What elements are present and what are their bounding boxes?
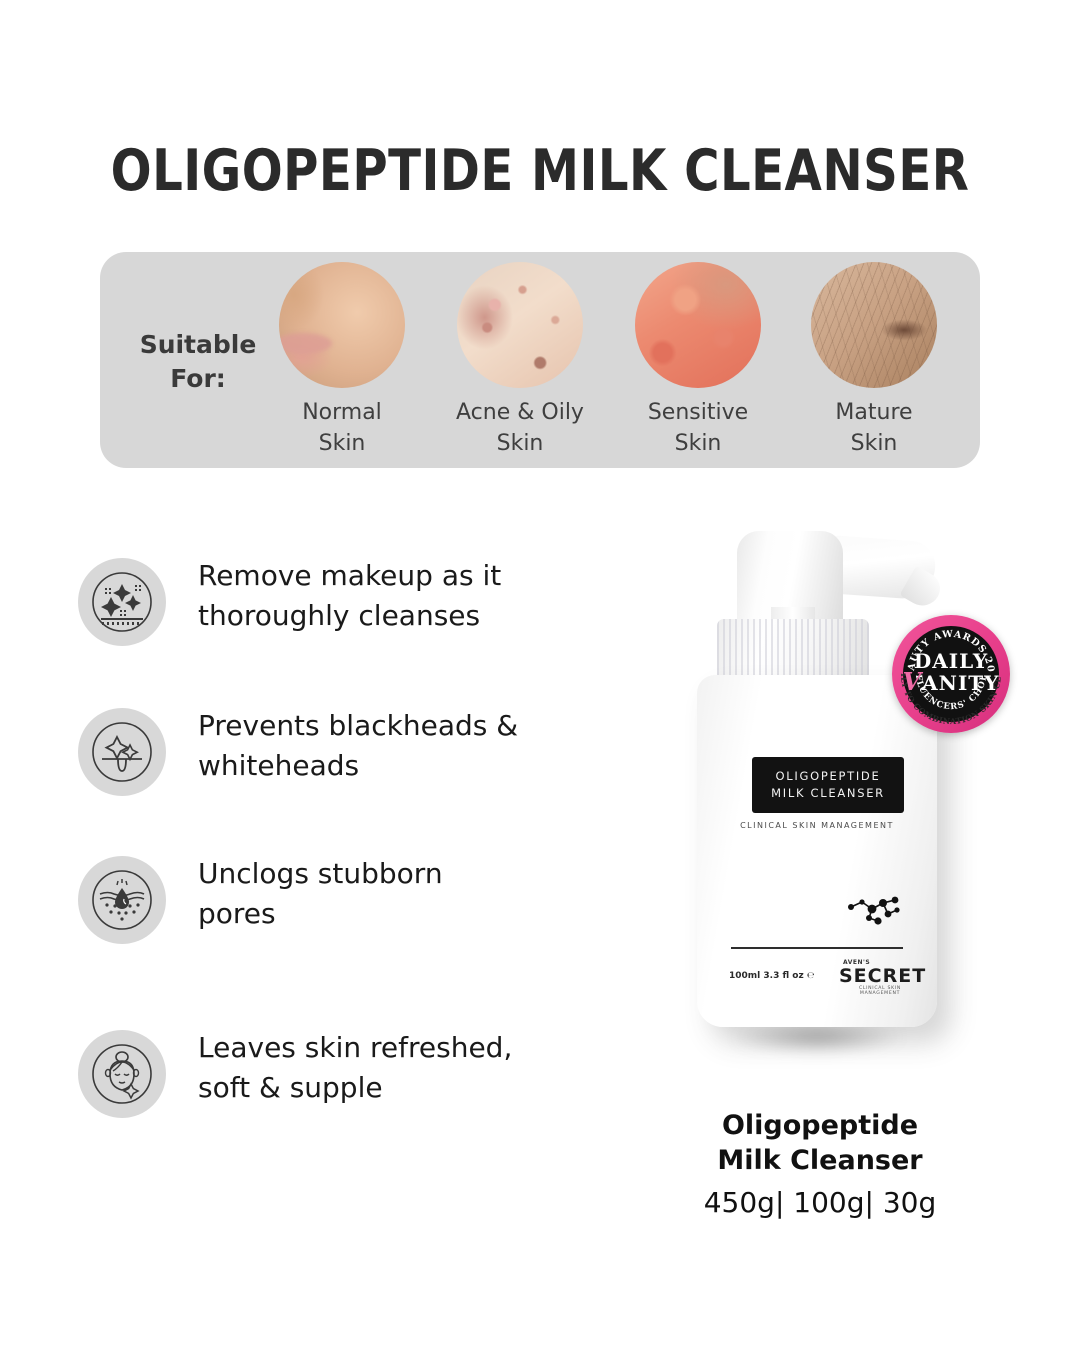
badge-top-text: BEAUTY AWARDS 2021 xyxy=(892,615,996,673)
benefit-item: Remove makeup as it thoroughly cleanses xyxy=(78,558,598,662)
brand-sub-text: CLINICAL SKIN MANAGEMENT xyxy=(839,986,921,996)
bottle-tagline: CLINICAL SKIN MANAGEMENT xyxy=(697,821,937,830)
benefit-line1: Unclogs stubborn xyxy=(198,854,598,894)
pump-nozzle xyxy=(829,535,937,600)
skin-type-label: Mature Skin xyxy=(789,397,959,459)
molecule-icon xyxy=(845,893,907,931)
caption-name: Oligopeptide Milk Cleanser xyxy=(640,1108,1000,1178)
svg-text:BEAUTY AWARDS 2021: BEAUTY AWARDS 2021 xyxy=(892,615,996,673)
suitable-for-heading: Suitable For: xyxy=(118,328,278,396)
page-title: OLIGOPEPTIDE MILK CLEANSER xyxy=(32,138,1047,204)
brand-main-text: SECRET xyxy=(839,966,921,986)
benefit-text: Remove makeup as it thoroughly cleanses xyxy=(198,556,598,636)
skin-label-line2: Skin xyxy=(257,428,427,459)
award-badge: BEAUTY AWARDS 2021 INFLUENCERS' CHOICE B… xyxy=(892,615,1010,733)
product-infographic: OLIGOPEPTIDE MILK CLEANSER Suitable For:… xyxy=(0,0,1080,1350)
benefit-line1: Leaves skin refreshed, xyxy=(198,1028,598,1068)
product-bottle: OLIGOPEPTIDE MILK CLEANSER CLINICAL SKIN… xyxy=(655,515,985,1095)
bottle-label-line2: MILK CLEANSER xyxy=(771,785,885,802)
refreshed-face-icon xyxy=(78,1030,166,1118)
benefit-item: Prevents blackheads & whiteheads xyxy=(78,708,598,812)
benefit-item: Leaves skin refreshed, soft & supple xyxy=(78,1030,598,1134)
skin-label-line1: Sensitive xyxy=(613,397,783,428)
benefit-text: Leaves skin refreshed, soft & supple xyxy=(198,1028,598,1108)
label-divider xyxy=(731,947,903,949)
benefit-line1: Remove makeup as it xyxy=(198,556,598,596)
product-caption: Oligopeptide Milk Cleanser 450g| 100g| 3… xyxy=(640,1108,1000,1219)
benefit-item: Unclogs stubborn pores xyxy=(78,856,598,960)
skin-label-line2: Skin xyxy=(435,428,605,459)
sparkle-skin-surface-icon xyxy=(78,558,166,646)
skin-type-label: Acne & Oily Skin xyxy=(435,397,605,459)
mature-skin-photo xyxy=(811,262,937,388)
brand-logo: AVEN'S SECRET CLINICAL SKIN MANAGEMENT xyxy=(839,959,921,996)
skin-type-mature: Mature Skin xyxy=(789,262,959,459)
skin-label-line1: Acne & Oily xyxy=(435,397,605,428)
suitable-for-heading-text: Suitable For: xyxy=(118,328,278,396)
benefit-line2: thoroughly cleanses xyxy=(198,596,598,636)
bottle-volume: 100ml 3.3 fl oz ℮ xyxy=(729,971,815,981)
skin-type-sensitive: Sensitive Skin xyxy=(613,262,783,459)
bottle-label: OLIGOPEPTIDE MILK CLEANSER xyxy=(752,757,904,813)
benefit-line1: Prevents blackheads & xyxy=(198,706,598,746)
skin-label-line1: Mature xyxy=(789,397,959,428)
bottle-label-line1: OLIGOPEPTIDE xyxy=(776,768,881,785)
skin-type-label: Sensitive Skin xyxy=(613,397,783,459)
benefit-text: Prevents blackheads & whiteheads xyxy=(198,706,598,786)
skin-label-line2: Skin xyxy=(789,428,959,459)
caption-sizes: 450g| 100g| 30g xyxy=(640,1186,1000,1219)
caption-name-line2: Milk Cleanser xyxy=(640,1143,1000,1178)
benefit-line2: whiteheads xyxy=(198,746,598,786)
benefit-line2: pores xyxy=(198,894,598,934)
normal-skin-photo xyxy=(279,262,405,388)
unclog-pore-droplet-icon xyxy=(78,856,166,944)
acne-oily-skin-photo xyxy=(457,262,583,388)
skin-type-normal: Normal Skin xyxy=(257,262,427,459)
benefit-text: Unclogs stubborn pores xyxy=(198,854,598,934)
benefit-line2: soft & supple xyxy=(198,1068,598,1108)
skin-type-label: Normal Skin xyxy=(257,397,427,459)
caption-name-line1: Oligopeptide xyxy=(640,1108,1000,1143)
sensitive-skin-photo xyxy=(635,262,761,388)
sparkle-pore-icon xyxy=(78,708,166,796)
pump-collar xyxy=(717,619,869,681)
skin-type-acne-oily: Acne & Oily Skin xyxy=(435,262,605,459)
skin-label-line1: Normal xyxy=(257,397,427,428)
skin-label-line2: Skin xyxy=(613,428,783,459)
